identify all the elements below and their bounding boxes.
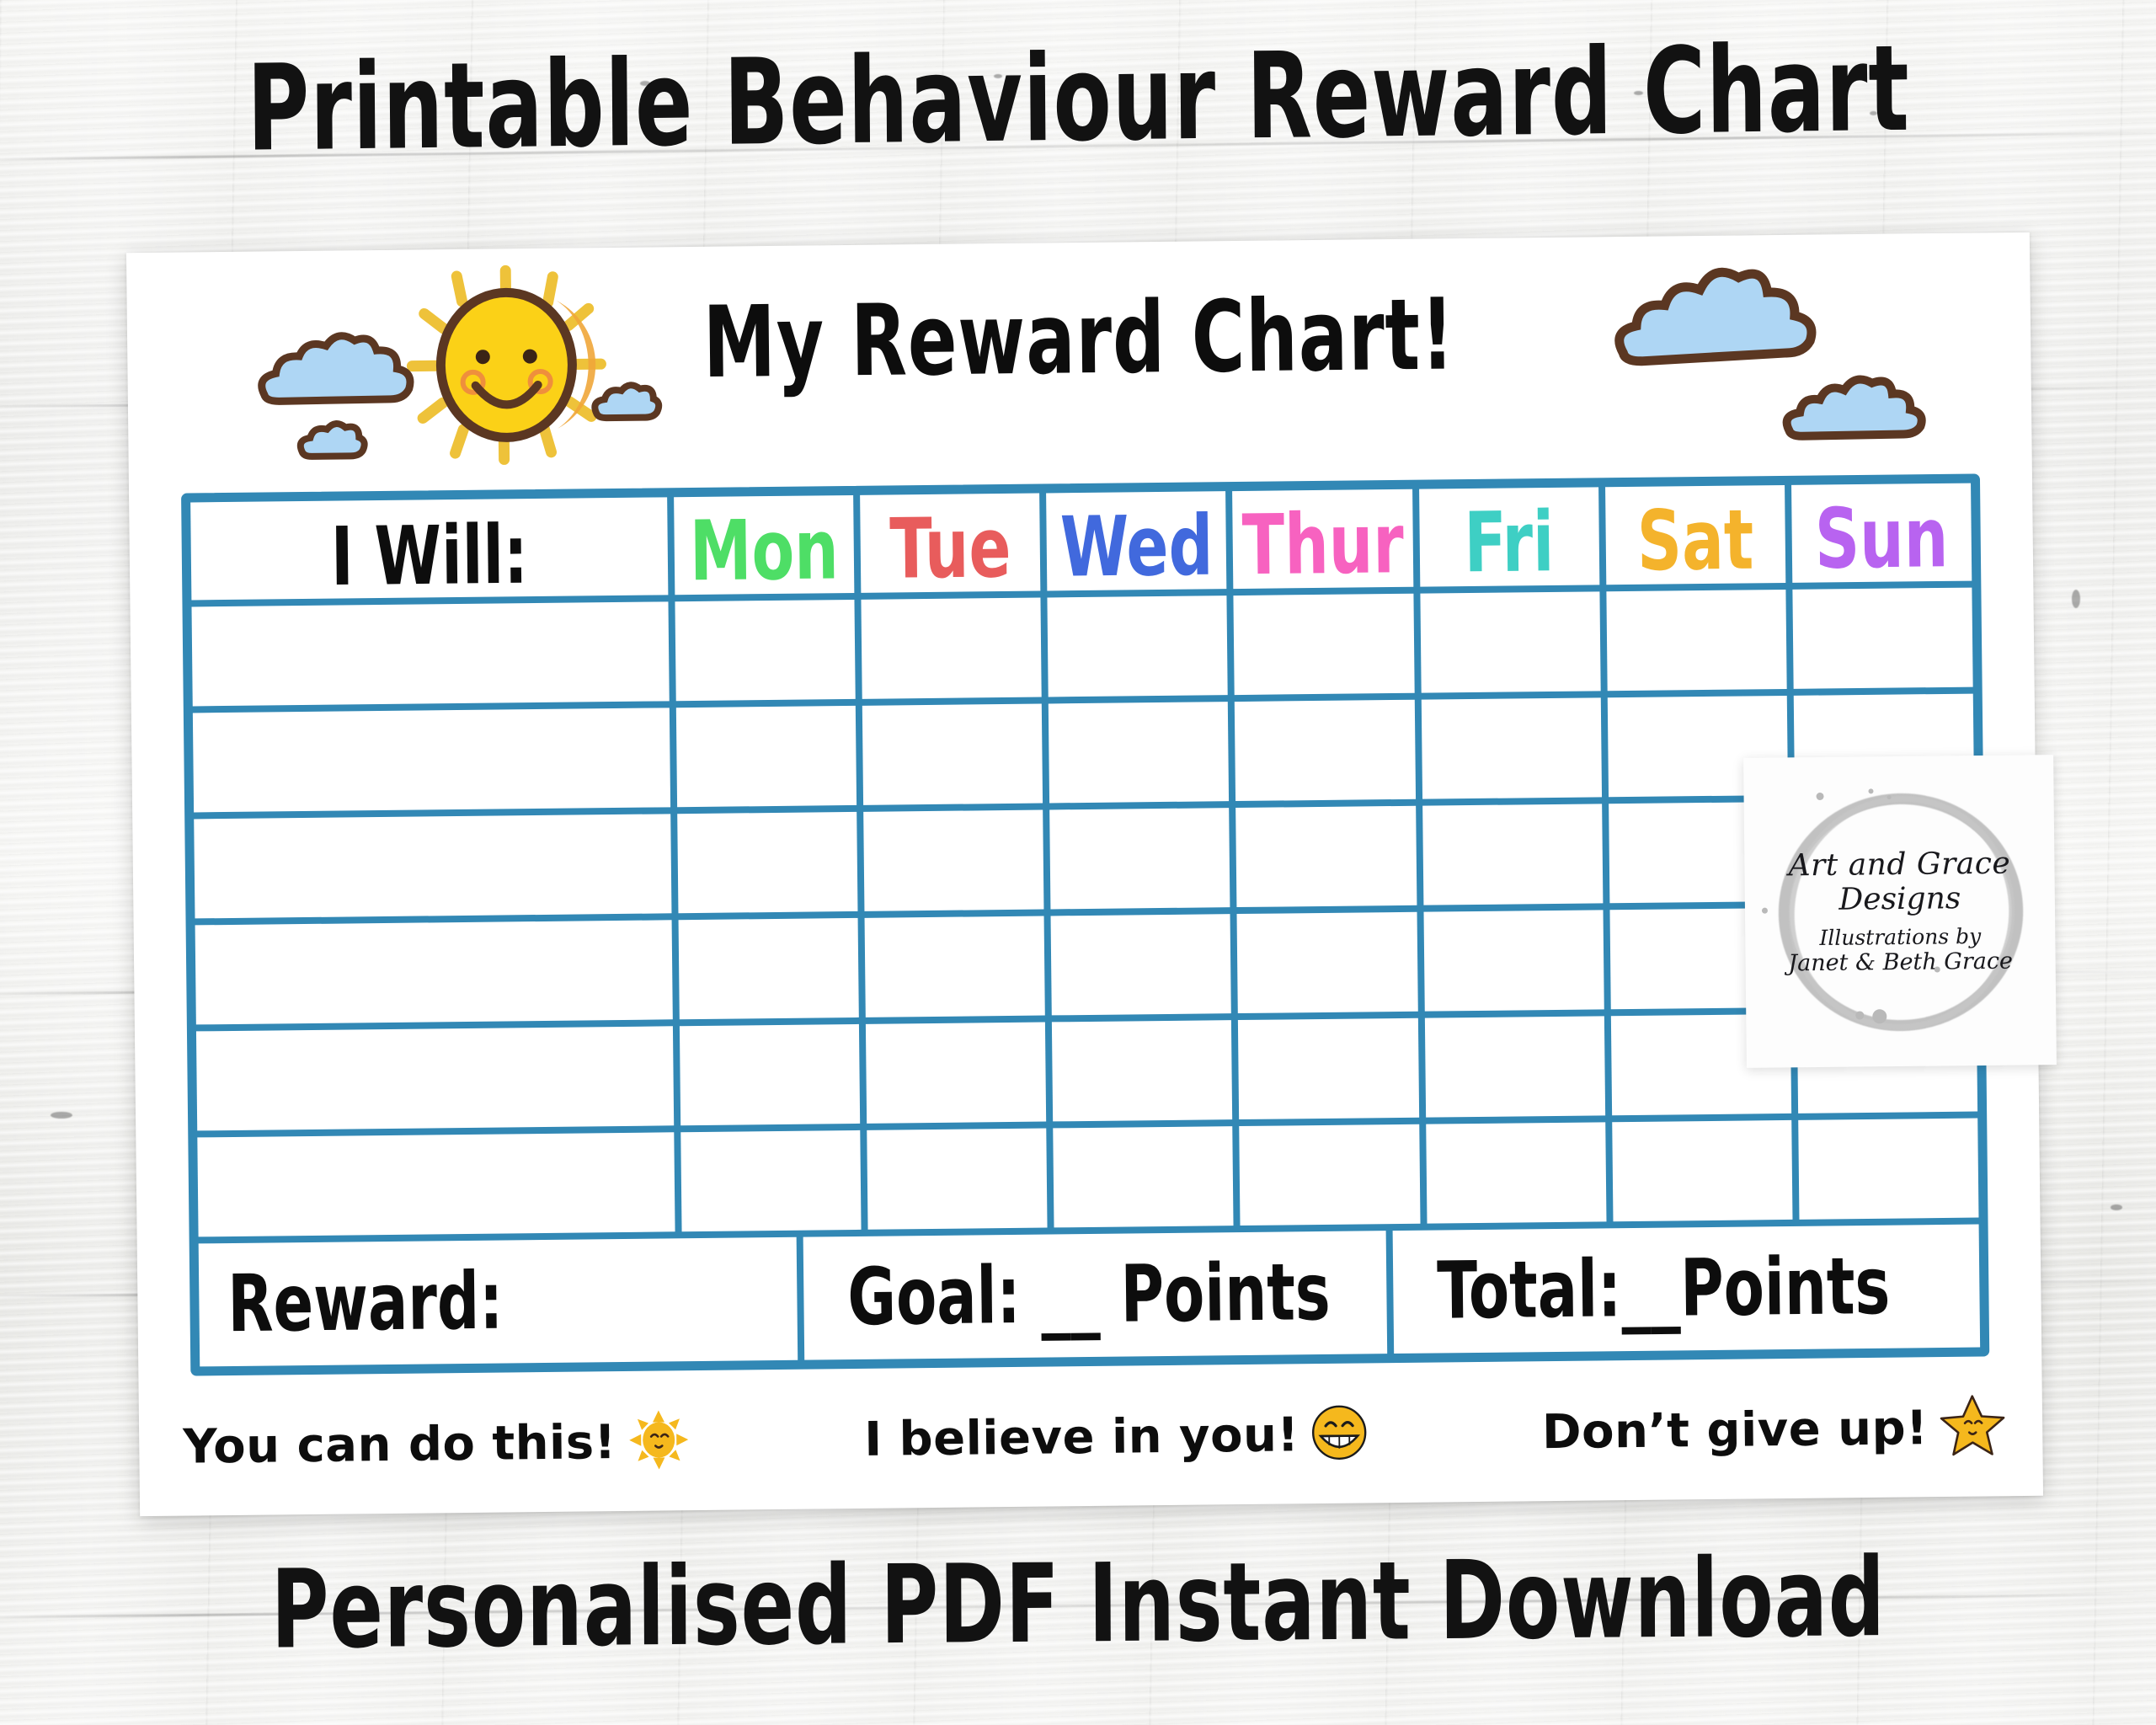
column-header-sat-label: Sat xyxy=(1636,500,1753,583)
day-cell[interactable] xyxy=(1424,1016,1604,1117)
page-headline: Printable Behaviour Reward Chart xyxy=(0,26,2156,174)
ink-speck xyxy=(1762,908,1768,914)
encouragement-text: Don’t give up! xyxy=(1542,1401,1929,1460)
day-cell[interactable] xyxy=(680,1024,860,1125)
task-cell[interactable] xyxy=(192,601,670,706)
table-row xyxy=(192,588,1973,707)
table-row xyxy=(193,694,1974,813)
day-cell[interactable] xyxy=(1240,1124,1420,1226)
day-cell[interactable] xyxy=(1792,588,1972,689)
day-cell[interactable] xyxy=(1052,1020,1232,1121)
total-label: Total:__Points xyxy=(1437,1247,1891,1331)
page-footline: Personalised PDF Instant Download xyxy=(0,1540,2156,1667)
encouragement-item: I believe in you! xyxy=(864,1403,1369,1469)
day-cell[interactable] xyxy=(867,1129,1047,1230)
total-cell[interactable]: Total:__Points xyxy=(1393,1225,1981,1354)
column-header-sun: Sun xyxy=(1791,483,1972,583)
card-header: My Reward Chart! xyxy=(126,232,2032,489)
day-cell[interactable] xyxy=(862,598,1042,699)
table-row xyxy=(195,906,1977,1025)
watermark-badge: Art and Grace Designs Illustrations by J… xyxy=(1743,755,2057,1068)
column-header-wed-label: Wed xyxy=(1059,506,1213,589)
grid-footer-row: Reward: Goal: __ Points Total:__Points xyxy=(199,1225,1980,1367)
encouragement-item: You can do this! xyxy=(183,1408,691,1480)
ink-speck xyxy=(1887,795,1892,799)
day-cell[interactable] xyxy=(1234,594,1414,695)
task-cell[interactable] xyxy=(196,1026,674,1130)
day-cell[interactable] xyxy=(1237,912,1417,1013)
day-cell[interactable] xyxy=(679,918,859,1019)
star-icon xyxy=(1940,1393,2006,1461)
ink-speck xyxy=(1868,788,1873,793)
day-cell[interactable] xyxy=(680,1130,861,1231)
day-cell[interactable] xyxy=(1423,910,1604,1011)
column-header-sat: Sat xyxy=(1605,485,1785,585)
column-header-sun-label: Sun xyxy=(1815,498,1949,580)
day-cell[interactable] xyxy=(1238,1018,1418,1119)
watermark-line-2: Designs xyxy=(1787,881,2012,919)
column-header-tue-label: Tue xyxy=(889,508,1011,590)
goal-label: Goal: __ Points xyxy=(847,1253,1331,1338)
day-cell[interactable] xyxy=(1235,700,1415,801)
task-cell[interactable] xyxy=(193,708,670,812)
column-header-thur-label: Thur xyxy=(1241,504,1404,587)
day-cell[interactable] xyxy=(1051,914,1231,1015)
column-header-thur: Thur xyxy=(1233,489,1413,589)
sun-icon xyxy=(627,1408,691,1475)
ink-speck xyxy=(1817,793,1824,800)
task-cell[interactable] xyxy=(197,1132,675,1236)
task-cell[interactable] xyxy=(194,814,671,918)
encouragement-item: Don’t give up! xyxy=(1542,1393,2006,1466)
day-cell[interactable] xyxy=(1048,595,1228,697)
ink-speck xyxy=(1855,1011,1864,1019)
day-cell[interactable] xyxy=(675,600,855,701)
column-header-task: I Will: xyxy=(190,497,668,600)
watermark-line-4: Janet & Beth Grace xyxy=(1788,948,2013,977)
day-cell[interactable] xyxy=(866,1023,1046,1124)
encouragement-text: You can do this! xyxy=(183,1415,616,1475)
reward-cell[interactable]: Reward: xyxy=(199,1237,798,1367)
day-cell[interactable] xyxy=(863,810,1043,911)
task-cell[interactable] xyxy=(195,920,673,1024)
wood-grain-fleck xyxy=(51,1112,72,1119)
column-header-mon: Mon xyxy=(674,495,854,595)
column-header-wed: Wed xyxy=(1046,491,1226,590)
day-cell[interactable] xyxy=(676,706,857,807)
day-cell[interactable] xyxy=(862,704,1043,805)
cloud-icon xyxy=(1600,250,1956,460)
column-header-task-label: I Will: xyxy=(330,515,528,597)
day-cell[interactable] xyxy=(1426,1122,1606,1223)
table-row xyxy=(196,1012,1977,1131)
encouragement-text: I believe in you! xyxy=(864,1407,1299,1467)
ink-speck xyxy=(1872,1009,1886,1023)
wood-grain-fleck xyxy=(2072,590,2080,608)
encouragement-strip: You can do this! xyxy=(183,1388,2006,1485)
wood-grain-fleck xyxy=(2111,1204,2122,1210)
grinning-face-icon xyxy=(1310,1403,1369,1465)
day-cell[interactable] xyxy=(1421,697,1601,798)
day-cell[interactable] xyxy=(1606,590,1786,691)
day-cell[interactable] xyxy=(1420,591,1600,692)
day-cell[interactable] xyxy=(1049,702,1229,803)
day-cell[interactable] xyxy=(1798,1119,1978,1220)
day-cell[interactable] xyxy=(1049,808,1230,909)
watermark-line-3: Illustrations by xyxy=(1788,924,2013,951)
reward-grid-table: I Will: Mon Tue Wed Thur Fri Sat Sun xyxy=(181,473,1989,1375)
day-cell[interactable] xyxy=(865,916,1045,1017)
reward-label: Reward: xyxy=(227,1263,504,1344)
day-cell[interactable] xyxy=(1422,804,1603,905)
column-header-mon-label: Mon xyxy=(690,510,840,593)
table-row xyxy=(197,1119,1978,1237)
watermark-line-1: Art and Grace xyxy=(1787,846,2012,884)
day-cell[interactable] xyxy=(677,812,857,913)
column-header-tue: Tue xyxy=(860,494,1040,593)
day-cell[interactable] xyxy=(1236,806,1417,907)
day-cell[interactable] xyxy=(1612,1120,1792,1221)
table-row xyxy=(194,800,1975,919)
grid-header-row: I Will: Mon Tue Wed Thur Fri Sat Sun xyxy=(190,483,1972,601)
column-header-fri: Fri xyxy=(1419,487,1599,586)
column-header-fri-label: Fri xyxy=(1464,503,1555,585)
goal-cell[interactable]: Goal: __ Points xyxy=(803,1231,1388,1359)
watermark-text: Art and Grace Designs Illustrations by J… xyxy=(1787,846,2013,977)
day-cell[interactable] xyxy=(1054,1126,1234,1227)
